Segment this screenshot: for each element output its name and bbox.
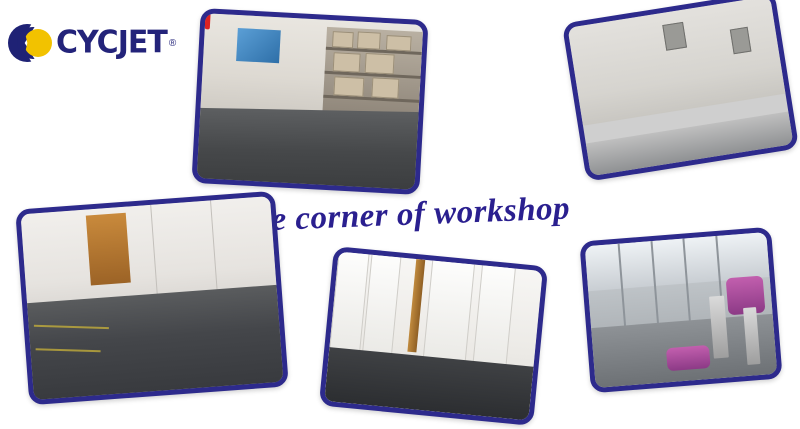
- photo-conveyor-line: [579, 227, 782, 394]
- brand-wordmark: CYCJET: [56, 27, 167, 59]
- scene-door: [86, 212, 131, 285]
- photo-conveyor-line-scene: [585, 232, 778, 388]
- scene-floor: [586, 111, 794, 176]
- cycjet-crescent-logo-icon: [8, 22, 60, 64]
- scene-floor: [197, 107, 424, 189]
- photo-workshop-row-2: [15, 191, 289, 406]
- photo-workshop-row-1-scene: [197, 13, 424, 190]
- page-title: the corner of workshop: [242, 188, 643, 240]
- scene-wall: [568, 0, 786, 126]
- photo-workshop-row-1: [191, 8, 428, 195]
- photo-blue-machines-scene: [568, 0, 794, 176]
- scene-bagged-goods: [666, 345, 711, 371]
- photo-blue-machines: [562, 0, 799, 182]
- scene-shelving: [322, 26, 423, 123]
- photo-dark-machines-scene: [324, 252, 542, 421]
- slide-canvas: CYCJET ® the corner of workshop: [0, 0, 800, 429]
- brand-logo: CYCJET ®: [8, 20, 198, 66]
- scene-blue-panel: [236, 28, 281, 63]
- scene-floor: [21, 284, 284, 400]
- logo-yellow-ball: [24, 29, 52, 57]
- photo-workshop-row-2-scene: [21, 196, 284, 400]
- photo-dark-machines: [319, 246, 548, 426]
- trademark-symbol: ®: [169, 38, 176, 49]
